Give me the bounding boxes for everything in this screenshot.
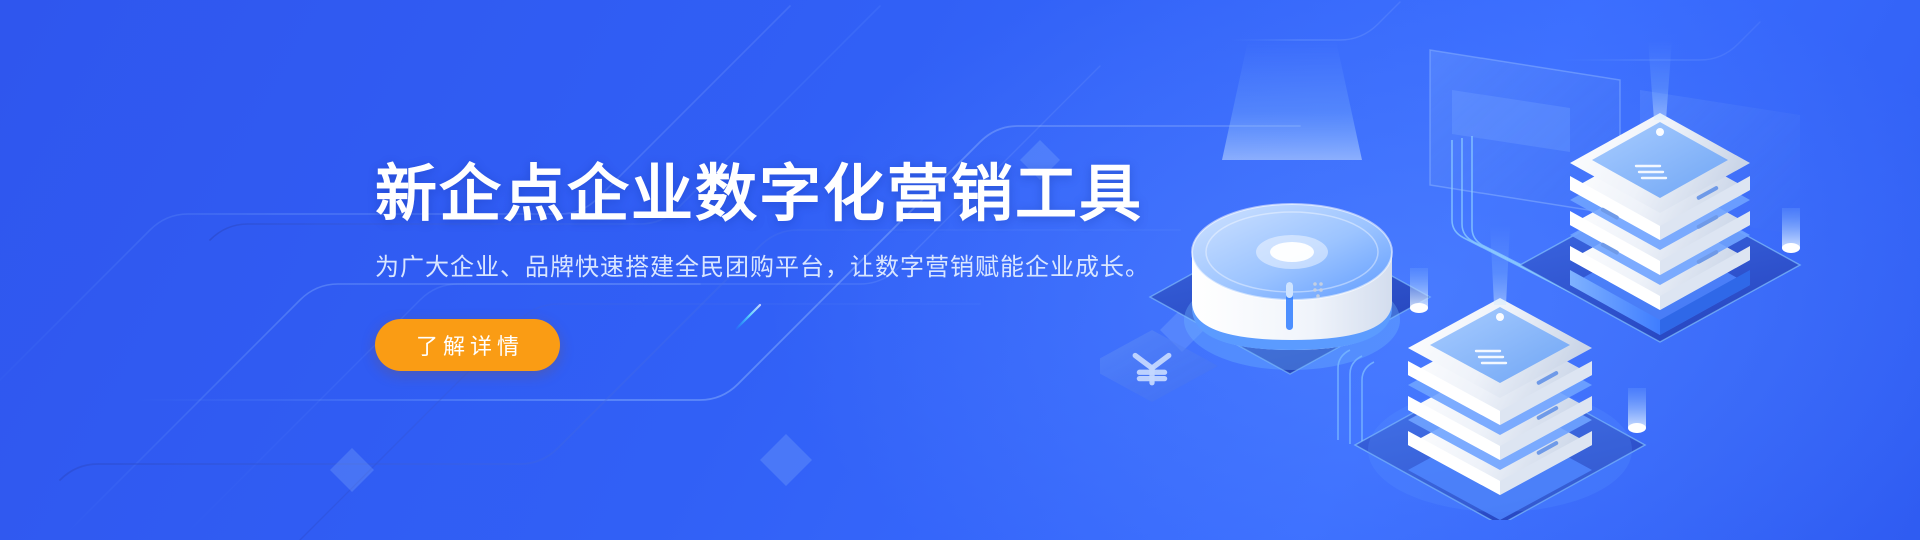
- banner-subtitle: 为广大企业、品牌快速搭建全民团购平台，让数字营销赋能企业成长。: [375, 251, 1205, 285]
- promo-banner: 新企点企业数字化营销工具 为广大企业、品牌快速搭建全民团购平台，让数字营销赋能企…: [0, 0, 1920, 540]
- banner-content: 新企点企业数字化营销工具 为广大企业、品牌快速搭建全民团购平台，让数字营销赋能企…: [375, 160, 1205, 371]
- pillar-lower-right: [1628, 388, 1646, 433]
- learn-more-button[interactable]: 了解详情: [375, 319, 560, 371]
- pillar-lower: [1410, 268, 1428, 313]
- pillar-upper: [1782, 208, 1800, 253]
- light-beam: [1222, 40, 1362, 160]
- smart-hub-cylinder: [1184, 40, 1400, 370]
- hero-illustration: [1100, 20, 1860, 520]
- light-beam: [1490, 225, 1510, 305]
- page-title: 新企点企业数字化营销工具: [375, 160, 1205, 229]
